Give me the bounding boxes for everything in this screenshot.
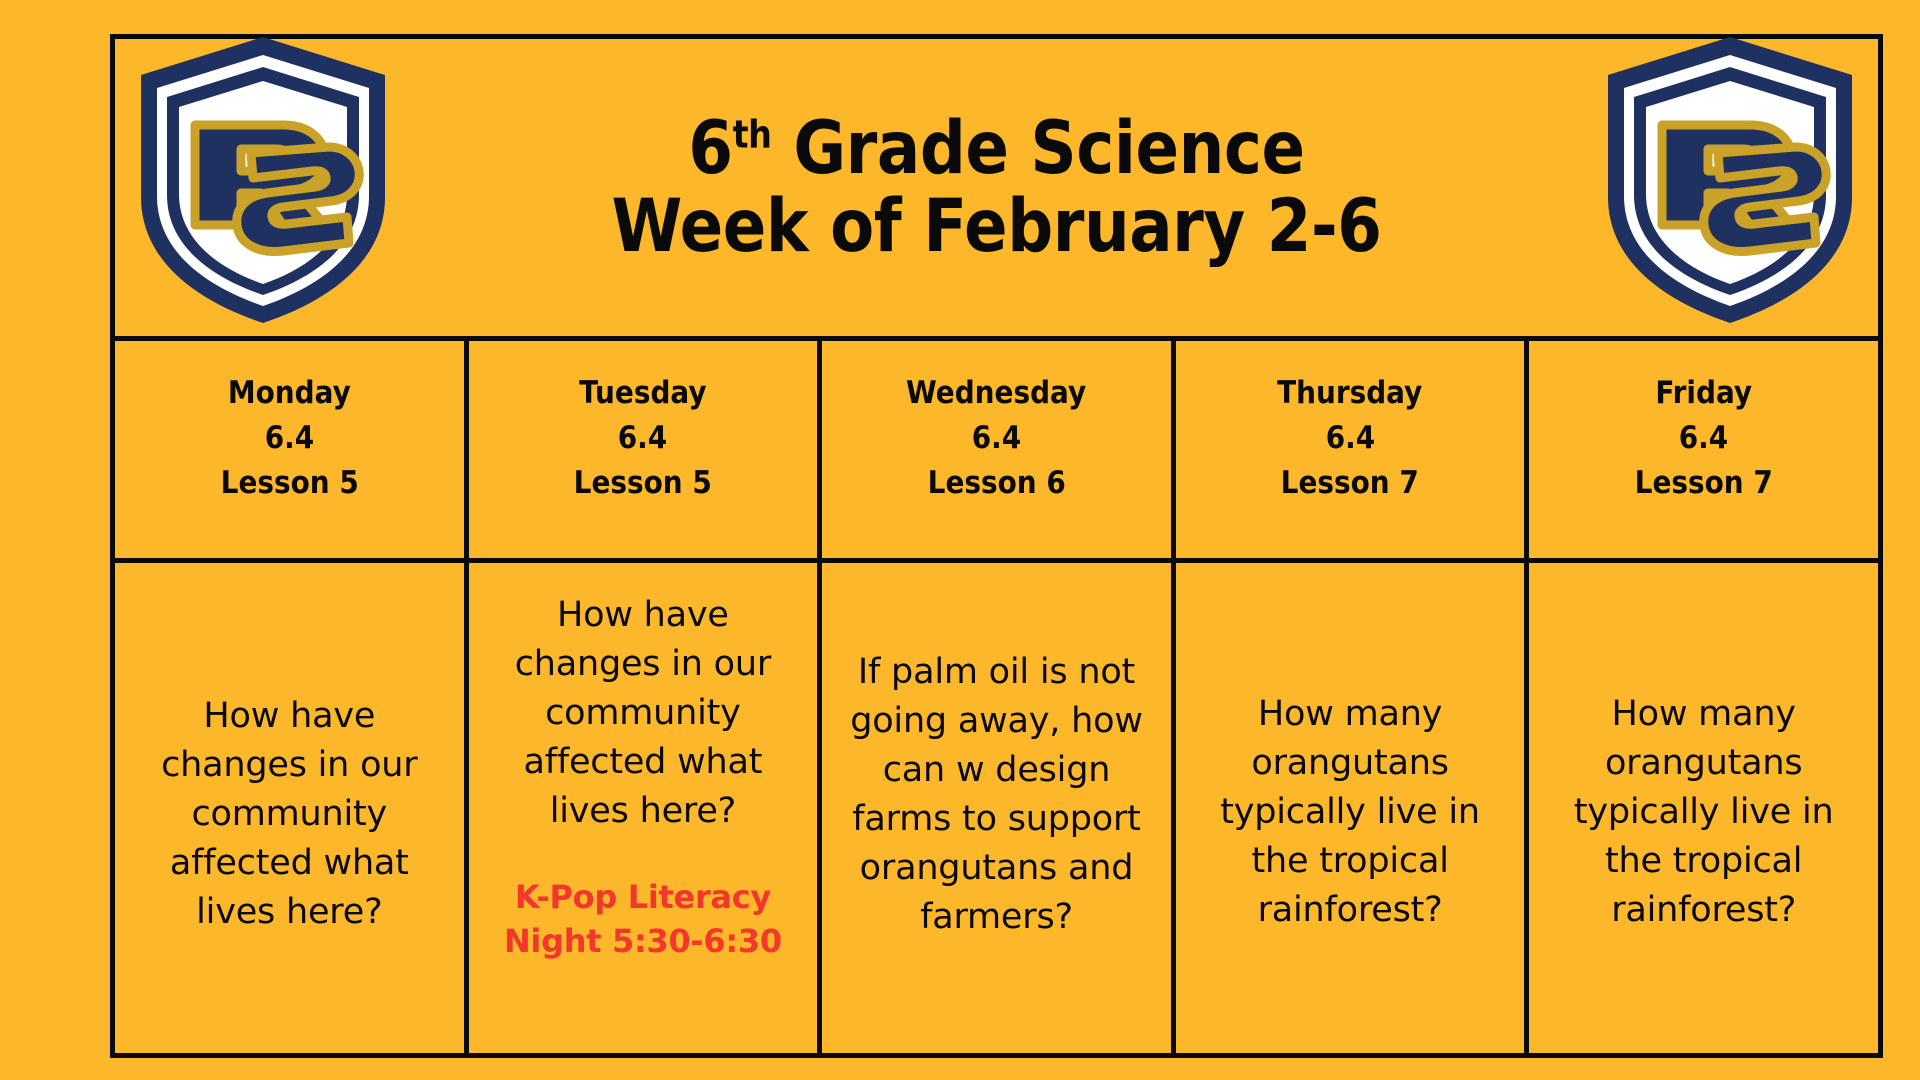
rs-school-shield-logo-right (1600, 29, 1860, 329)
weekly-schedule-table: 6th Grade Science Week of February 2-6 (110, 34, 1883, 1058)
day-unit-monday: 6.4 (265, 416, 314, 461)
day-unit-friday: 6.4 (1679, 416, 1728, 461)
day-name-thursday: Thursday (1277, 371, 1422, 416)
day-lesson-friday: Lesson 7 (1635, 461, 1773, 506)
day-header-row: Monday 6.4 Lesson 5 Tuesday 6.4 Lesson 5… (115, 341, 1878, 563)
poster-title-ordinal-suffix: th (733, 113, 772, 157)
day-name-wednesday: Wednesday (906, 371, 1086, 416)
day-unit-wednesday: 6.4 (972, 416, 1021, 461)
day-lesson-tuesday: Lesson 5 (574, 461, 712, 506)
poster-title-line1: 6th Grade Science (611, 110, 1381, 187)
essential-question-thursday: How many orangutans typically live in th… (1196, 690, 1505, 935)
content-cell-friday: How many orangutans typically live in th… (1529, 563, 1878, 1053)
event-note-tuesday: K-Pop Literacy Night 5:30-6:30 (489, 876, 798, 963)
day-header-monday: Monday 6.4 Lesson 5 (115, 341, 469, 558)
weekly-plan-poster: 6th Grade Science Week of February 2-6 (0, 0, 1920, 1080)
day-lesson-monday: Lesson 5 (220, 461, 358, 506)
rs-school-shield-logo-left (133, 29, 393, 329)
content-cell-wednesday: If palm oil is not going away, how can w… (822, 563, 1176, 1053)
day-lesson-thursday: Lesson 7 (1281, 461, 1419, 506)
essential-question-tuesday: How have changes in our community affect… (489, 591, 798, 836)
day-name-monday: Monday (228, 371, 351, 416)
poster-title-line2: Week of February 2-6 (611, 188, 1381, 265)
essential-question-friday: How many orangutans typically live in th… (1549, 690, 1858, 935)
poster-header-banner: 6th Grade Science Week of February 2-6 (115, 39, 1878, 341)
day-header-thursday: Thursday 6.4 Lesson 7 (1176, 341, 1530, 558)
poster-title: 6th Grade Science Week of February 2-6 (611, 110, 1381, 265)
essential-question-wednesday: If palm oil is not going away, how can w… (842, 648, 1151, 942)
poster-title-subject: Grade Science (771, 106, 1304, 191)
day-unit-thursday: 6.4 (1325, 416, 1374, 461)
essential-question-monday: How have changes in our community affect… (135, 692, 444, 937)
poster-title-grade-number: 6 (688, 106, 732, 191)
day-unit-tuesday: 6.4 (618, 416, 667, 461)
day-header-wednesday: Wednesday 6.4 Lesson 6 (822, 341, 1176, 558)
day-name-friday: Friday (1655, 371, 1752, 416)
day-header-tuesday: Tuesday 6.4 Lesson 5 (469, 341, 823, 558)
content-cell-tuesday: How have changes in our community affect… (469, 563, 823, 1053)
content-cell-thursday: How many orangutans typically live in th… (1176, 563, 1530, 1053)
day-lesson-wednesday: Lesson 6 (927, 461, 1065, 506)
day-content-row: How have changes in our community affect… (115, 563, 1878, 1053)
day-header-friday: Friday 6.4 Lesson 7 (1529, 341, 1878, 558)
day-name-tuesday: Tuesday (579, 371, 706, 416)
content-cell-monday: How have changes in our community affect… (115, 563, 469, 1053)
